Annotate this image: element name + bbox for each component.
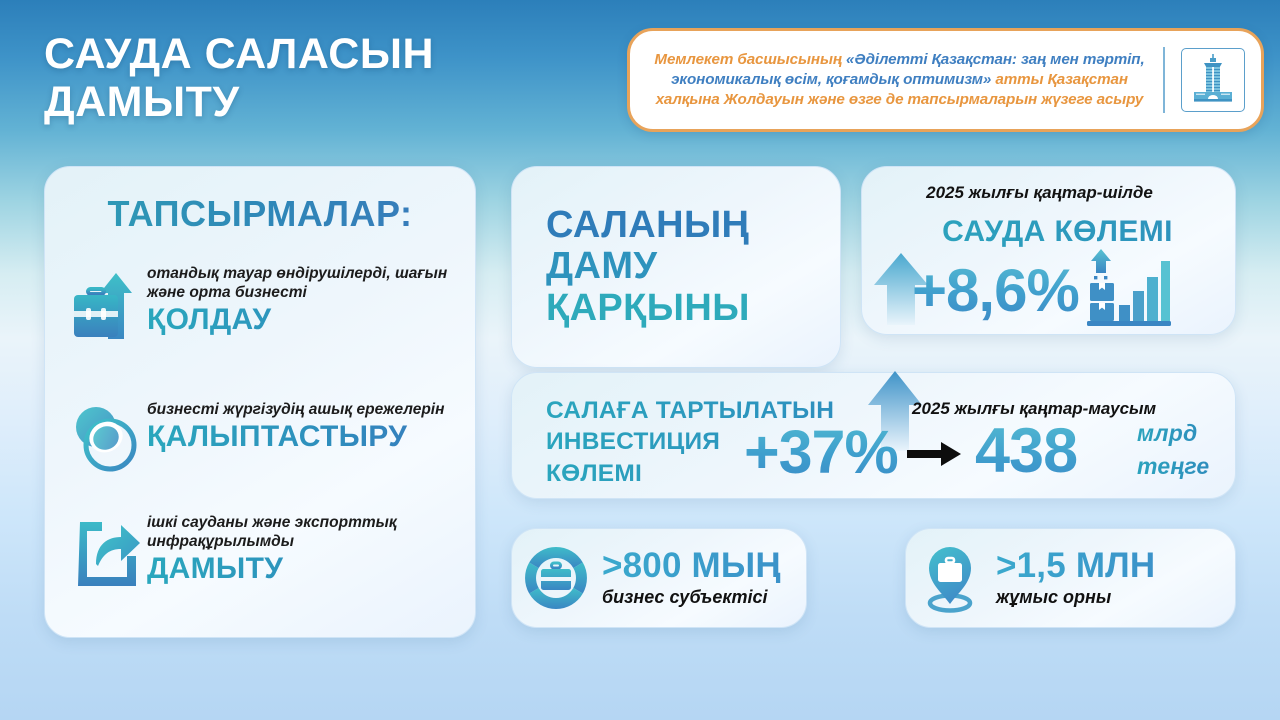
investment-unit: млрд теңге	[1137, 417, 1209, 484]
jobs-caption: жұмыс орны	[996, 587, 1155, 608]
task-description: отандық тауар өндірушілерді, шағын және …	[147, 265, 459, 303]
task-action: ДАМЫТУ	[147, 553, 459, 585]
overlapping-circles-icon	[69, 399, 147, 477]
growth-line-2: ДАМУ	[546, 246, 750, 287]
map-pin-briefcase-icon	[906, 543, 994, 613]
stat-body: >800 МЫҢ бизнес субъектісі	[600, 548, 781, 608]
task-action: ҚОЛДАУ	[147, 304, 459, 336]
stat-body: >1,5 МЛН жұмыс орны	[994, 548, 1155, 608]
jobs-value: >1,5 МЛН	[996, 548, 1155, 583]
infographic-root: САУДА САЛАСЫН ДАМЫТУ Мемлекет басшысының…	[0, 0, 1280, 720]
tasks-panel: ТАПСЫРМАЛАР:	[44, 166, 476, 638]
boxes-bar-chart-icon	[1081, 247, 1173, 334]
investment-amount: 438	[975, 415, 1077, 487]
task-item: бизнесті жүргізудің ашық ережелерін ҚАЛЫ…	[69, 399, 459, 477]
task-action: ҚАЛЫПТАСТЫРУ	[147, 421, 459, 453]
task-description: бизнесті жүргізудің ашық ережелерін	[147, 401, 459, 420]
briefcase-donut-icon	[512, 545, 600, 611]
task-body: ішкі сауданы және экспорттық инфрақұрылы…	[147, 512, 459, 584]
growth-card: САЛАНЫҢ ДАМУ ҚАРҚЫНЫ	[511, 166, 841, 368]
task-description: ішкі сауданы және экспорттық инфрақұрылы…	[147, 514, 459, 552]
trade-value-row: +8,6%	[870, 251, 1229, 329]
task-item: ішкі сауданы және экспорттық инфрақұрылы…	[69, 512, 459, 594]
growth-line-1: САЛАНЫҢ	[546, 205, 750, 246]
investment-label-line-3: КӨЛЕМІ	[546, 460, 642, 487]
business-entities-card: >800 МЫҢ бизнес субъектісі	[511, 528, 807, 628]
investment-label-line-2: ИНВЕСТИЦИЯ	[546, 428, 720, 455]
task-body: бизнесті жүргізудің ашық ережелерін ҚАЛЫ…	[147, 399, 459, 452]
right-arrow-icon	[907, 439, 963, 474]
tasks-heading: ТАПСЫРМАЛАР:	[45, 193, 475, 235]
trade-volume-card: 2025 жылғы қаңтар-шілде САУДА КӨЛЕМІ +8,…	[861, 166, 1236, 335]
banner-text: Мемлекет басшысының «Әділетті Қазақстан:…	[630, 50, 1163, 109]
investment-percent: +37%	[744, 417, 898, 487]
trade-metric-label: САУДА КӨЛЕМІ	[880, 215, 1235, 249]
header-banner: Мемлекет басшысының «Әділетті Қазақстан:…	[627, 28, 1264, 132]
jobs-card: >1,5 МЛН жұмыс орны	[905, 528, 1236, 628]
banner-logo	[1165, 48, 1261, 112]
page-title: САУДА САЛАСЫН ДАМЫТУ	[44, 30, 604, 126]
export-share-icon	[69, 512, 147, 594]
task-item: отандық тауар өндірушілерді, шағын және …	[69, 263, 459, 343]
business-entities-value: >800 МЫҢ	[602, 548, 781, 583]
investment-unit-line-1: млрд	[1137, 420, 1197, 446]
growth-line-3: ҚАРҚЫНЫ	[546, 288, 750, 329]
trade-value: +8,6%	[912, 256, 1079, 325]
business-entities-caption: бизнес субъектісі	[602, 587, 781, 608]
banner-orange-part-1: Мемлекет басшысының	[654, 51, 842, 68]
trade-period-label: 2025 жылғы қаңтар-шілде	[862, 183, 1217, 203]
task-body: отандық тауар өндірушілерді, шағын және …	[147, 263, 459, 335]
investment-card: САЛАҒА ТАРТЫЛАТЫН ИНВЕСТИЦИЯ КӨЛЕМІ +37%…	[511, 372, 1236, 499]
growth-title: САЛАНЫҢ ДАМУ ҚАРҚЫНЫ	[512, 205, 750, 329]
investment-unit-line-2: теңге	[1137, 453, 1209, 479]
briefcase-up-arrow-icon	[69, 263, 147, 343]
government-building-icon	[1181, 48, 1245, 112]
